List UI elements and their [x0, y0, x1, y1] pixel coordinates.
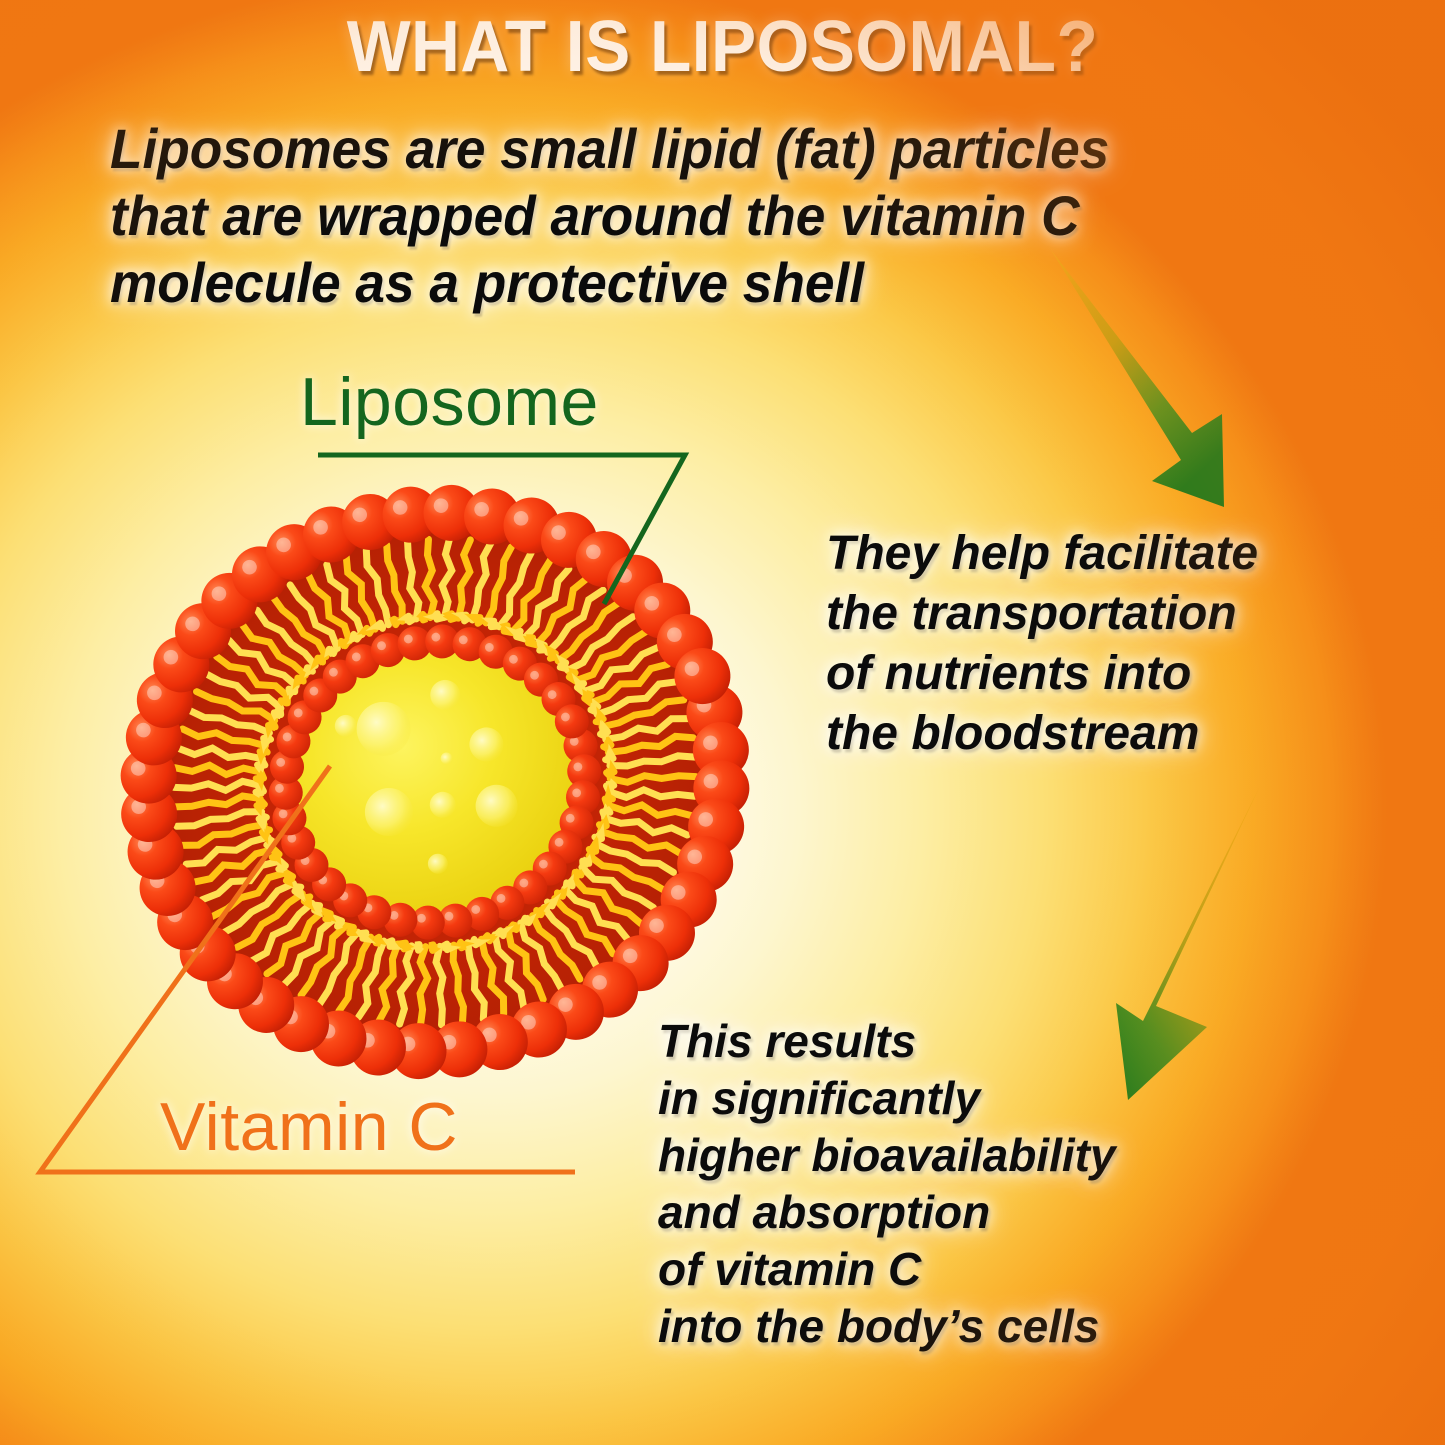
lipid-tail [604, 795, 613, 803]
statement-bioavailability-line-5: of vitamin C [658, 1241, 1338, 1298]
lipid-tail [472, 938, 479, 945]
statement-bioavailability: This results in significantly higher bio… [658, 1013, 1338, 1355]
lipid-tail [589, 847, 597, 855]
lipid-tail [271, 851, 280, 859]
lipid-tail [316, 657, 324, 664]
infographic-poster: WHAT IS LIPOSOMAL? Liposomes are small l… [0, 0, 1445, 1445]
lipid-tail [285, 874, 294, 883]
lipid-tail [256, 800, 266, 809]
lipid-tail [576, 682, 585, 691]
statement-transportation: They help facilitate the transportation … [826, 524, 1426, 764]
lipid-tail [582, 858, 590, 866]
lipid-tail [328, 648, 336, 655]
lipid-tail [527, 637, 534, 644]
callout-label-liposome: Liposome [300, 363, 599, 441]
page-title: WHAT IS LIPOSOMAL? [43, 6, 1401, 88]
lipid-tail [489, 620, 497, 628]
lipid-tail [523, 917, 531, 924]
callout-label-vitamin-c: Vitamin C [160, 1088, 458, 1166]
statement-bioavailability-line-4: and absorption [658, 1184, 1338, 1241]
lipid-tail [340, 640, 348, 647]
lipid-tail [605, 754, 615, 763]
lipid-tail [434, 613, 441, 620]
lipid-tail [255, 774, 264, 782]
lipid-tail [289, 687, 296, 693]
intro-line-1: Liposomes are small lipid (fat) particle… [110, 115, 1298, 182]
lipid-tail [348, 926, 355, 934]
intro-line-2: that are wrapped around the vitamin C [110, 182, 1298, 249]
lipid-tail [388, 940, 393, 947]
statement-bioavailability-line-1: This results [658, 1013, 1338, 1070]
statement-transportation-line-2: the transportation [826, 584, 1426, 644]
statement-bioavailability-line-2: in significantly [658, 1070, 1338, 1127]
lipid-tail [274, 710, 282, 718]
intro-line-3: molecule as a protective shell [110, 249, 1298, 316]
lipid-tail [429, 944, 437, 951]
lipid-tail [584, 694, 593, 701]
lipid-tail [294, 885, 303, 894]
lipid-tail [497, 930, 504, 937]
lipid-tail [602, 810, 610, 815]
statement-bioavailability-line-6: into the body’s cells [658, 1298, 1338, 1355]
lipid-tail [515, 631, 522, 639]
lipid-tail [404, 615, 413, 623]
lipid-tail [502, 626, 509, 634]
intro-paragraph: Liposomes are small lipid (fat) particle… [110, 115, 1298, 317]
lipid-tail [565, 882, 572, 888]
lipid-tail [535, 909, 543, 916]
lipid-tail [258, 813, 268, 822]
statement-bioavailability-line-3: higher bioavailability [658, 1127, 1338, 1184]
lipid-tail [606, 768, 616, 777]
lipid-tail [549, 651, 557, 660]
lipid-tail [360, 932, 367, 940]
lipid-tail [374, 937, 381, 945]
lipid-tail [415, 943, 422, 950]
lipid-tail [402, 943, 407, 949]
lipid-tail [255, 787, 264, 796]
statement-transportation-line-4: the bloodstream [826, 704, 1426, 764]
lipid-tail [573, 870, 581, 877]
lipid-tail [442, 943, 451, 951]
lipid-tail [605, 781, 614, 790]
lipid-tail [324, 912, 332, 920]
lipid-tail [449, 614, 453, 620]
lipid-tail [263, 735, 271, 743]
statement-transportation-line-1: They help facilitate [826, 524, 1426, 584]
lipid-tail [281, 699, 289, 706]
lipid-tail [559, 660, 567, 669]
lipid-tail [476, 616, 483, 624]
statement-transportation-line-3: of nutrients into [826, 644, 1426, 704]
lipid-tail [599, 728, 609, 737]
lipid-tail [296, 677, 303, 683]
lipid-tail [277, 862, 286, 871]
lipid-tail [377, 622, 385, 629]
lipid-tail [268, 722, 276, 731]
lipid-tail [336, 919, 343, 927]
